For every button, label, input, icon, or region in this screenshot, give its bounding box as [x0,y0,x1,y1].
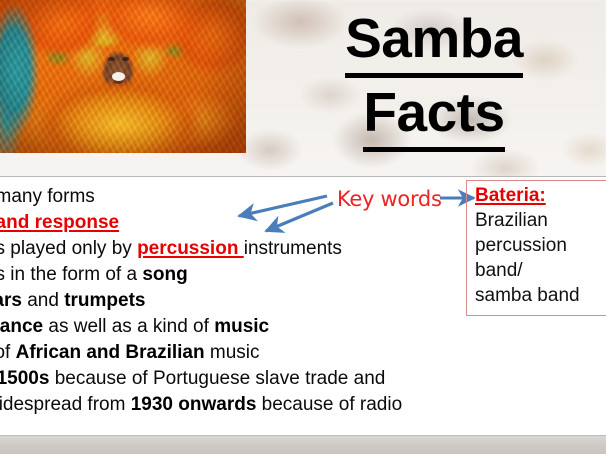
next-slide-strip [0,436,606,454]
emphasis-text: trumpets [64,290,145,311]
fact-line: Sometimes played only by percussion inst… [0,236,470,262]
emphasis-text: guitars [0,290,22,311]
fact-line: Uses call and response [0,210,470,236]
fact-text: Sometimes in the form of a [0,264,142,285]
carnival-dancer-photo [0,0,246,153]
fact-text: instruments [244,238,342,259]
bateria-definition-box: Bateria: Brazilianpercussionband/samba b… [466,180,606,316]
bateria-description-line: band/ [475,258,606,283]
fact-text: A mixture of [0,342,16,363]
samba-facts-slide: Samba Facts Comes in many formsUses call… [0,0,606,454]
key-word-highlight: call and response [0,212,119,233]
fact-text: music [205,342,260,363]
fact-line: Became widespread from 1930 onwards beca… [0,392,470,418]
key-words-label: Key words [337,187,442,211]
fact-text: Comes in many forms [0,186,95,207]
fact-text: as well as a kind of [43,316,214,337]
fact-text: Sometimes played only by [0,238,137,259]
title-line-1: Samba [262,4,606,78]
fact-line: Uses guitars and trumpets [0,288,470,314]
bateria-description-line: percussion [475,233,606,258]
title-line-2-text: Facts [363,78,504,152]
fact-text: because of Portuguese slave trade and [49,368,385,389]
emphasis-text: song [142,264,187,285]
emphasis-text: African and Brazilian [16,342,205,363]
emphasis-text: music [214,316,269,337]
fact-text: and [22,290,64,311]
fact-text: because of radio [256,394,402,415]
title-line-1-text: Samba [345,4,523,78]
fact-line: A kind of dance as well as a kind of mus… [0,314,470,340]
emphasis-text: dance [0,316,43,337]
fact-line: A mixture of African and Brazilian music [0,340,470,366]
fact-line: Sometimes in the form of a song [0,262,470,288]
emphasis-text: 1500s [0,368,49,389]
photo-vignette [0,0,246,153]
facts-list: Comes in many formsUses call and respons… [0,184,470,418]
fact-line: Started in 1500s because of Portuguese s… [0,366,470,392]
bateria-description-line: Brazilian [475,208,606,233]
bateria-title: Bateria: [475,184,606,208]
bateria-description: Brazilianpercussionband/samba band [475,208,606,308]
page-title: Samba Facts [262,4,606,152]
key-word-highlight: percussion [137,238,244,259]
title-line-2: Facts [262,78,606,152]
bateria-description-line: samba band [475,283,606,308]
fact-text: Became widespread from [0,394,131,415]
emphasis-text: 1930 onwards [131,394,257,415]
